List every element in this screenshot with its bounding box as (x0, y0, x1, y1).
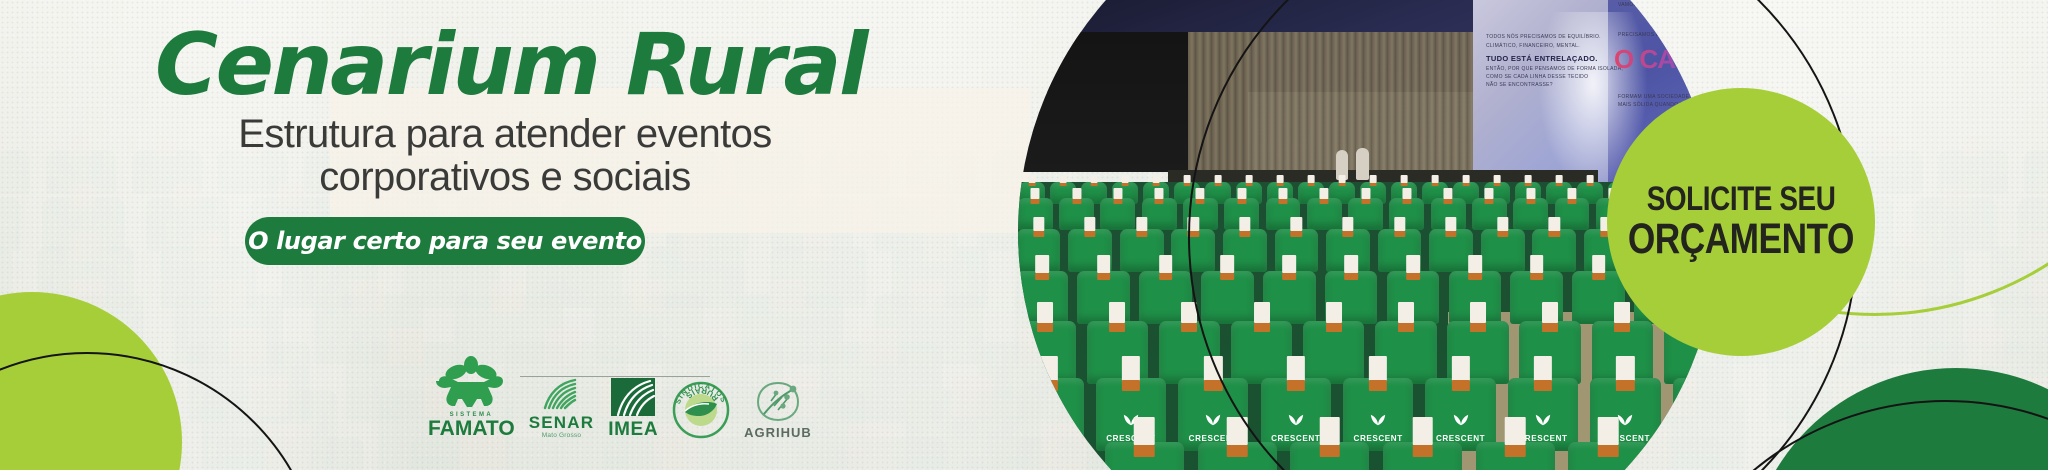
headline-block: Cenarium Rural Estrutura para atender ev… (155, 24, 915, 265)
logo-senar[interactable]: SENAR Mato Grosso (529, 376, 595, 439)
subtitle-line-1: Estrutura para atender eventos (155, 113, 855, 156)
cta-solicite-orcamento[interactable]: SOLICITE SEU ORÇAMENTO (1607, 88, 1875, 356)
partner-logo-strip: SISTEMA FAMATO SENAR Mato Grosso (428, 356, 812, 439)
promo-banner: TODOS NÓS PRECISAMOS DE EQUILÍBRIO. CLIM… (0, 0, 2048, 470)
cta-line-2: ORÇAMENTO (1628, 218, 1854, 262)
logo-imea[interactable]: IMEA (608, 377, 658, 439)
logo-senar-name: SENAR (529, 414, 595, 431)
logo-famato-name: FAMATO (428, 418, 515, 439)
tagline-pill-label: O lugar certo para seu evento (248, 227, 642, 255)
logo-imea-name: IMEA (608, 420, 658, 439)
cta-line-1: SOLICITE SEU (1647, 182, 1836, 216)
logo-agrihub-name: AGRIHUB (744, 426, 812, 439)
page-title: Cenarium Rural (155, 24, 915, 107)
logo-agrihub[interactable]: AGRIHUB (744, 380, 812, 439)
agrihub-leaf-node-icon (754, 380, 802, 424)
imea-square-icon (610, 377, 656, 417)
senar-leaf-icon (539, 376, 583, 412)
tagline-pill-button[interactable]: O lugar certo para seu evento (245, 217, 645, 265)
plant-bull-icon (433, 356, 509, 412)
logo-famato[interactable]: SISTEMA FAMATO (428, 356, 515, 439)
subtitle: Estrutura para atender eventos corporati… (155, 113, 855, 199)
sindicatos-badge-icon: SINDICATOS RURAIS (672, 381, 730, 439)
logo-sindicatos-rurais[interactable]: SINDICATOS RURAIS (672, 381, 730, 439)
logo-senar-sub: Mato Grosso (542, 432, 581, 439)
subtitle-line-2: corporativos e sociais (155, 156, 855, 199)
